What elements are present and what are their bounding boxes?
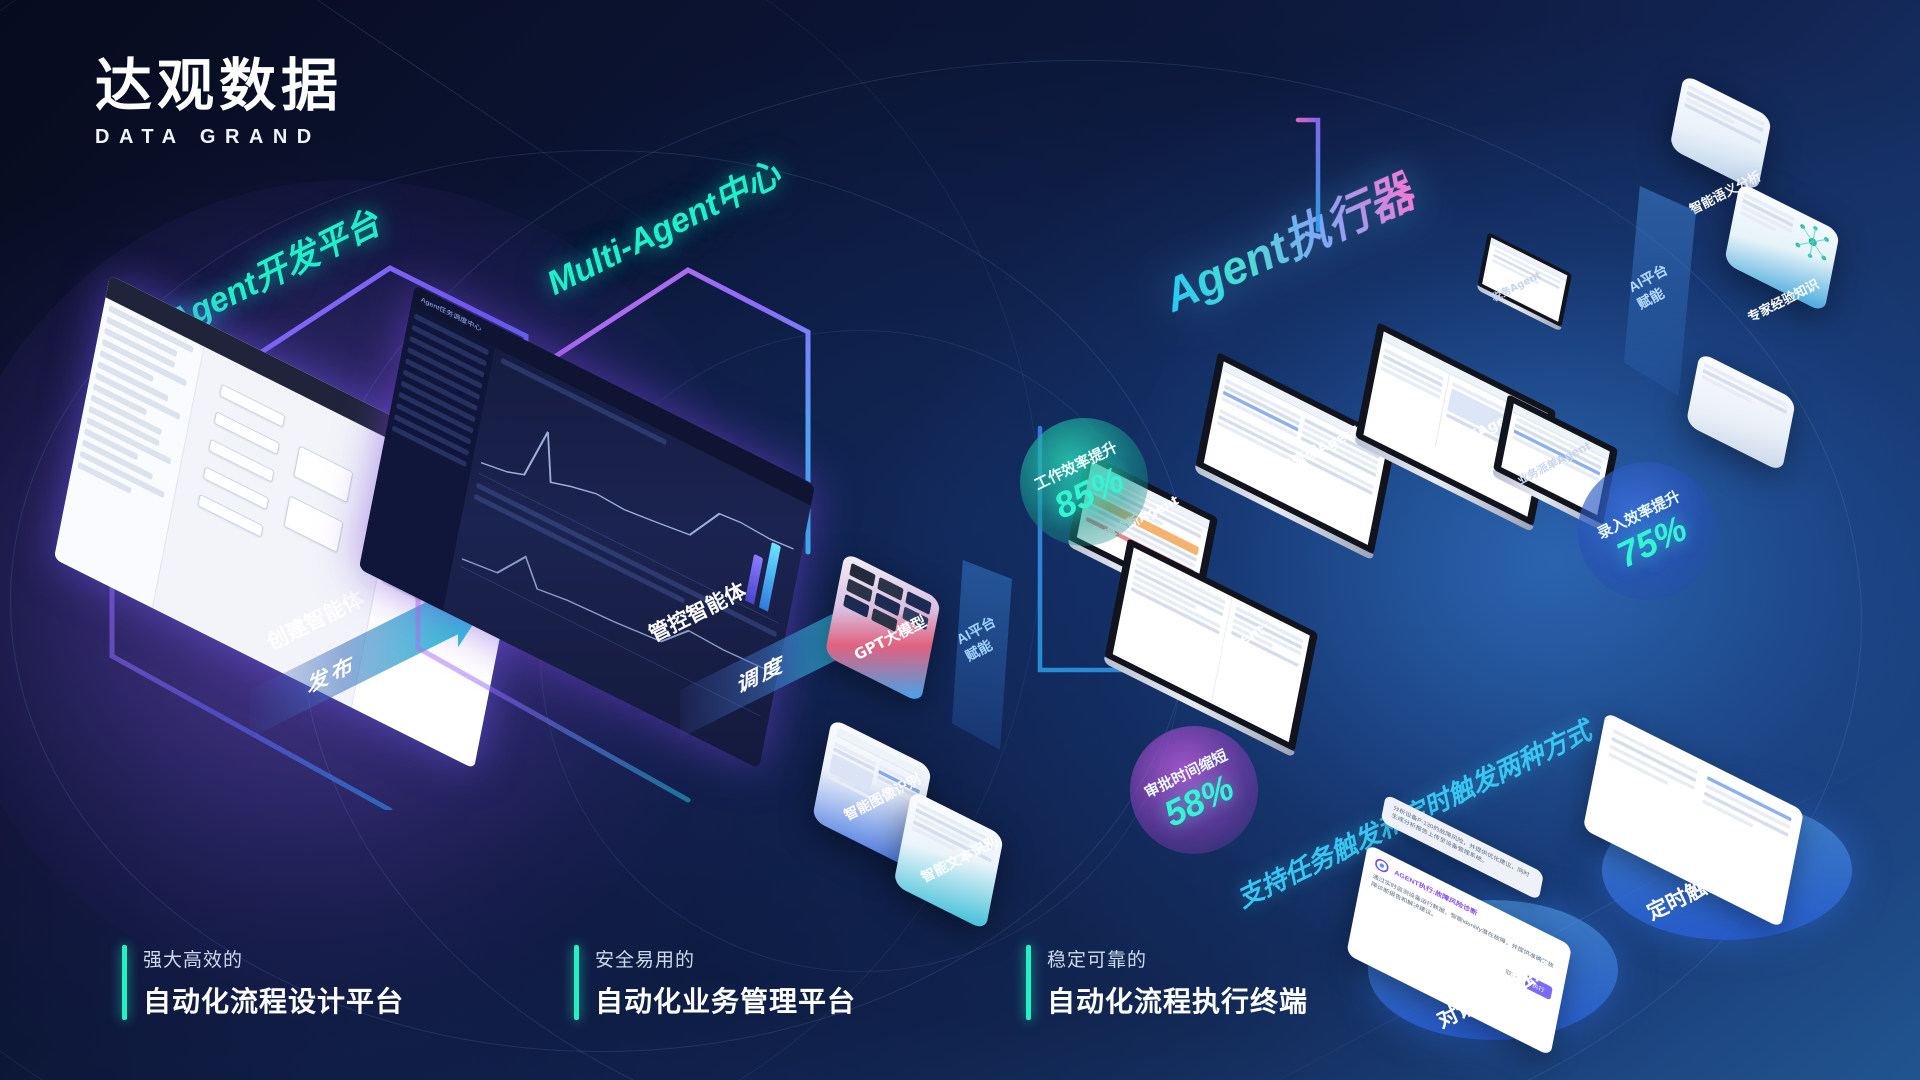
section-title-executor: Agent执行器 [1152, 156, 1424, 325]
caption-execution-terminal: 稳定可靠的 自动化流程执行终端 [1026, 945, 1308, 1020]
caption-management-platform: 安全易用的 自动化业务管理平台 [574, 945, 856, 1020]
brand-logo: 达观数据 DATA GRAND [95, 58, 343, 149]
brand-name-cn: 达观数据 [95, 58, 343, 115]
caption-subtitle: 稳定可靠的 [1047, 945, 1308, 972]
caption-accent-bar [574, 945, 579, 1020]
section-title-multi-agent: Multi-Agent中心 [537, 147, 787, 305]
stat-bubble-efficiency: 工作效率提升 85% [1020, 418, 1148, 546]
caption-subtitle: 强大高效的 [143, 945, 404, 972]
bottom-captions: 强大高效的 自动化流程设计平台 安全易用的 自动化业务管理平台 稳定可靠的 自动… [122, 945, 1308, 1020]
caption-accent-bar [1026, 945, 1031, 1020]
stat-bubble-approval: 审批时间缩短 58% [1130, 726, 1258, 854]
card-extra-dashboard [1686, 352, 1796, 472]
caption-subtitle: 安全易用的 [595, 945, 856, 972]
caption-title: 自动化业务管理平台 [595, 980, 856, 1020]
agent-logo-icon [1374, 857, 1389, 875]
caption-title: 自动化流程执行终端 [1047, 980, 1308, 1020]
caption-design-platform: 强大高效的 自动化流程设计平台 [122, 945, 404, 1020]
knowledge-graph-icon [1793, 217, 1833, 267]
brand-name-en: DATA GRAND [95, 126, 343, 149]
caption-title: 自动化流程设计平台 [143, 980, 404, 1020]
caption-accent-bar [122, 945, 127, 1020]
infographic-canvas: 达观数据 DATA GRAND Agent开发平台 [0, 0, 1920, 1080]
stat-bubble-entry: 录入效率提升 75% [1578, 462, 1716, 600]
